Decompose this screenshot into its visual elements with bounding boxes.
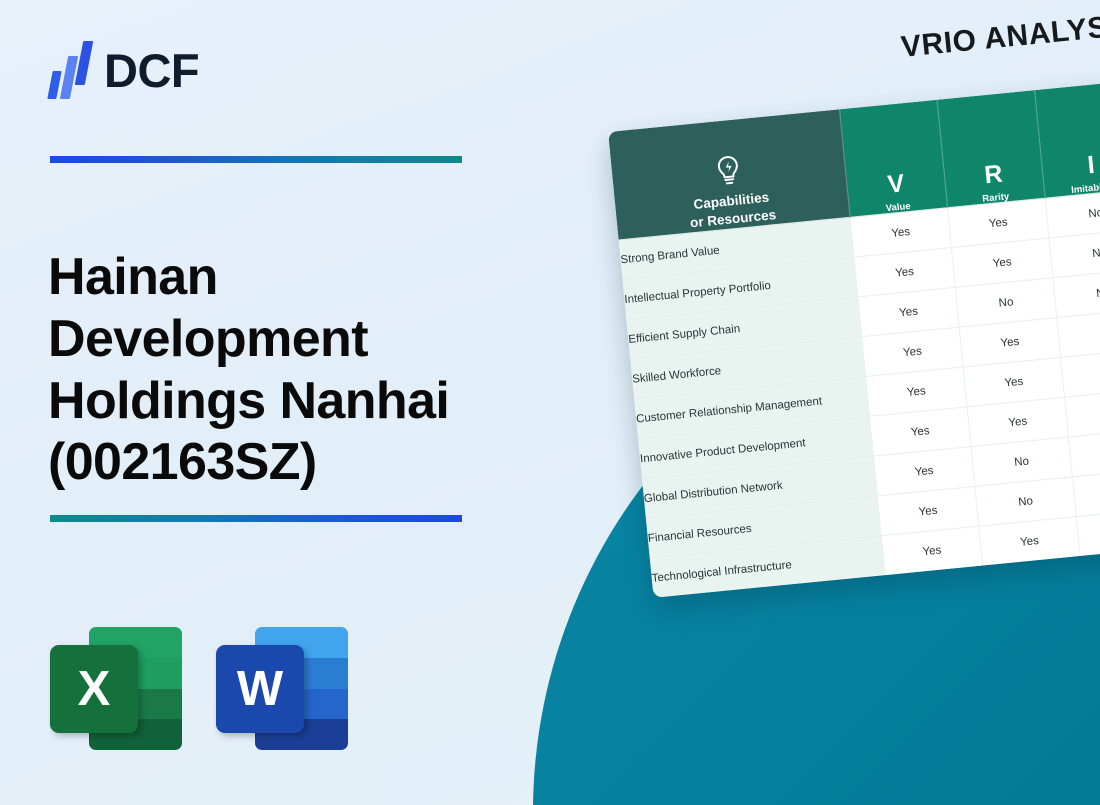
- dcf-logo[interactable]: DCF: [48, 38, 199, 102]
- cell-rarity: Yes: [979, 517, 1080, 566]
- vrio-table-card: Capabilities or Resources V Value R Rari…: [608, 71, 1100, 597]
- slide-canvas: DCF Hainan Development Holdings Nanhai (…: [0, 0, 1100, 805]
- divider-top: [50, 156, 462, 163]
- word-file-icon[interactable]: W: [216, 620, 348, 750]
- cell-value: Yes: [881, 526, 982, 575]
- header-value: V Value: [839, 100, 947, 218]
- page-title: Hainan Development Holdings Nanhai (0021…: [48, 247, 518, 495]
- vrio-analysis-title: VRIO ANALYSIS: [900, 8, 1100, 65]
- excel-file-icon[interactable]: X: [50, 620, 182, 750]
- logo-wordmark: DCF: [104, 47, 199, 94]
- divider-bottom: [50, 515, 462, 522]
- word-badge-letter: W: [216, 645, 304, 733]
- header-rarity: R Rarity: [937, 90, 1045, 208]
- download-icons: X W: [50, 620, 348, 750]
- header-rarity-letter: R: [944, 157, 1043, 191]
- bar-chart-logo-icon: [48, 41, 92, 99]
- vrio-table: Capabilities or Resources V Value R Rari…: [608, 71, 1100, 597]
- header-value-letter: V: [846, 167, 945, 201]
- header-imitability: I Imitability: [1034, 81, 1100, 199]
- vrio-panel: VRIO ANALYSIS Capa: [560, 0, 1100, 805]
- header-imitability-letter: I: [1042, 148, 1100, 182]
- lightbulb-idea-icon: [713, 154, 744, 187]
- vrio-table-body: Strong Brand Value Yes Yes No Intellectu…: [619, 179, 1100, 598]
- excel-badge-letter: X: [50, 645, 138, 733]
- title-panel: DCF Hainan Development Holdings Nanhai (…: [0, 0, 545, 805]
